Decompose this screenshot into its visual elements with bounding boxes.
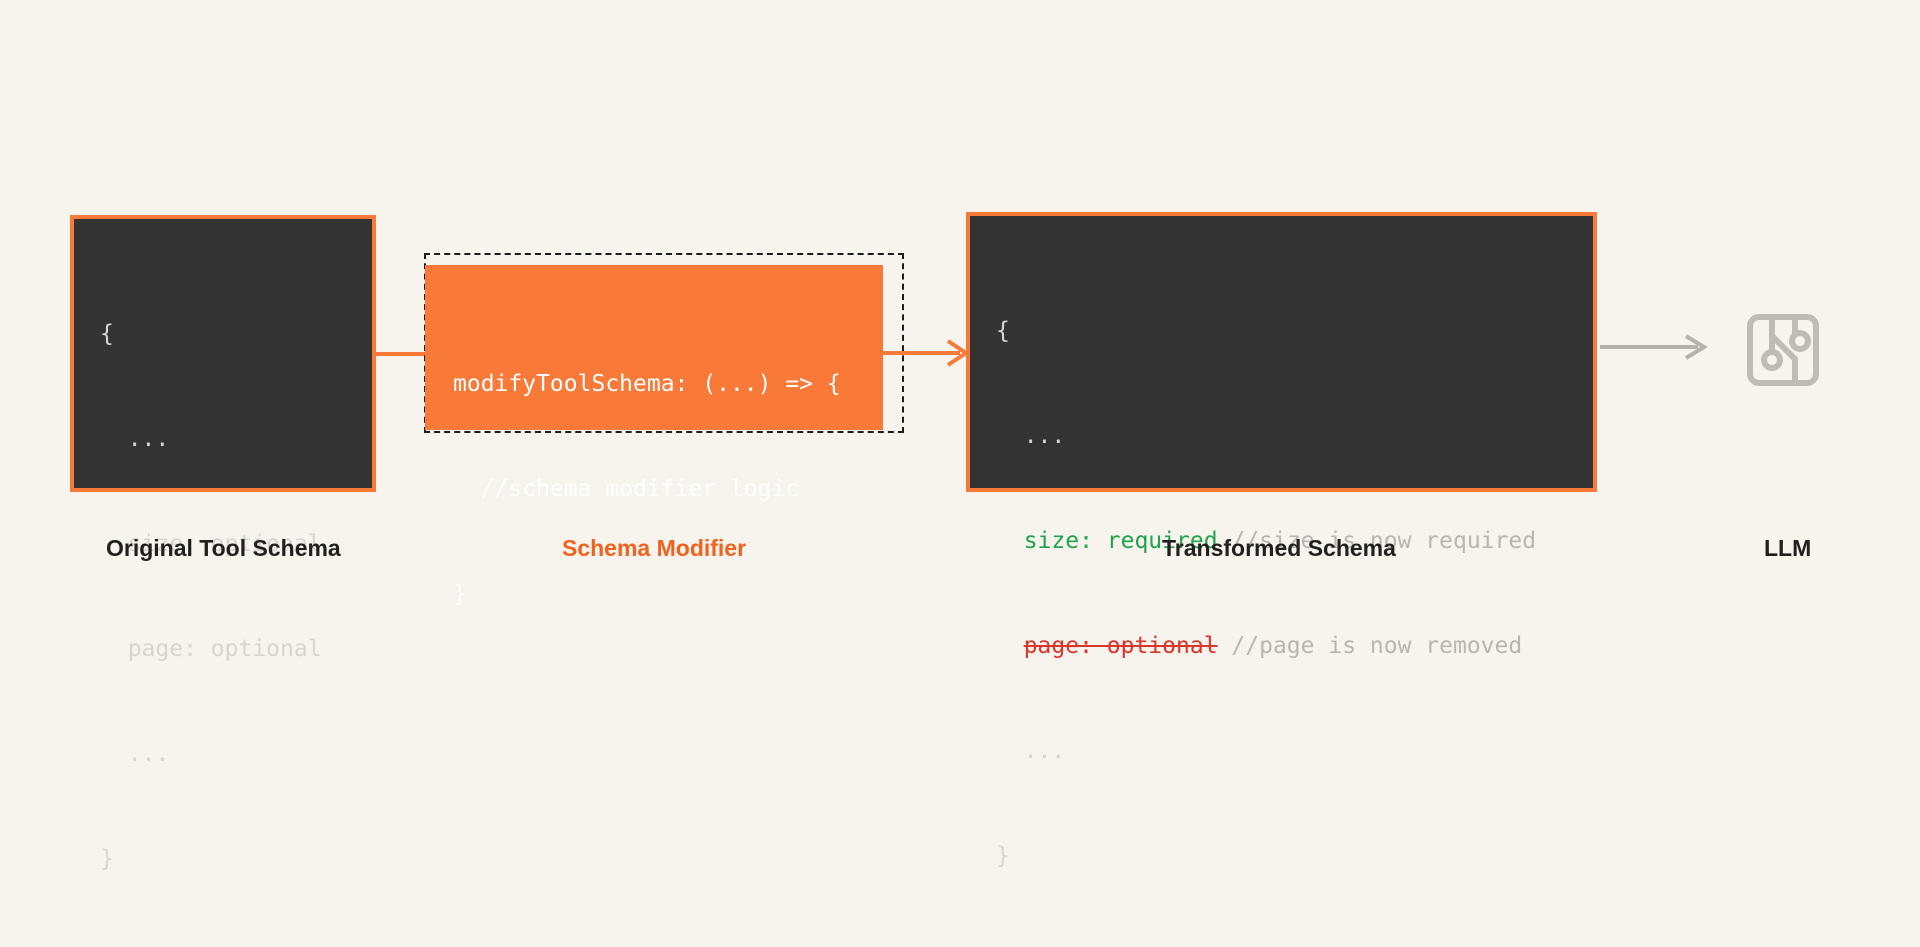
code-line: ... <box>100 422 372 457</box>
code-line: } <box>996 839 1593 874</box>
code-line: ... <box>996 734 1593 769</box>
code-line: } <box>453 577 883 612</box>
code-line: { <box>996 314 1593 349</box>
code-line: //schema modifier logic <box>453 472 883 507</box>
page-comment: //page is now removed <box>1231 633 1522 659</box>
caption-original-tool-schema: Original Tool Schema <box>106 535 341 562</box>
page-optional-removed-token: page: optional <box>1024 633 1218 659</box>
connector-transformed-to-llm <box>1600 332 1710 362</box>
connector-original-to-modifier <box>376 352 428 356</box>
connector-modifier-to-transformed <box>880 338 972 368</box>
code-line: ... <box>100 737 372 772</box>
caption-transformed-schema: Transformed Schema <box>1162 535 1396 562</box>
code-line: page: optional <box>100 632 372 667</box>
orange-arrow-icon <box>880 338 972 368</box>
gray-arrow-icon <box>1600 332 1710 362</box>
llm-chip-container <box>1745 312 1821 388</box>
code-line-page: page: optional //page is now removed <box>996 629 1593 664</box>
caption-schema-modifier: Schema Modifier <box>562 535 746 562</box>
code-line: modifyToolSchema: (...) => { <box>453 367 883 402</box>
code-line: ... <box>996 419 1593 454</box>
transformed-schema-box: { ... size: required //size is now requi… <box>966 212 1597 492</box>
code-line: { <box>100 317 372 352</box>
original-tool-schema-box: { ... size: optional page: optional ... … <box>70 215 376 492</box>
schema-modifier-box: modifyToolSchema: (...) => { //schema mo… <box>425 265 883 430</box>
caption-llm: LLM <box>1764 535 1811 562</box>
chip-circuit-icon <box>1745 312 1821 388</box>
diagram-canvas: { ... size: optional page: optional ... … <box>0 0 1920 758</box>
code-line: } <box>100 842 372 877</box>
